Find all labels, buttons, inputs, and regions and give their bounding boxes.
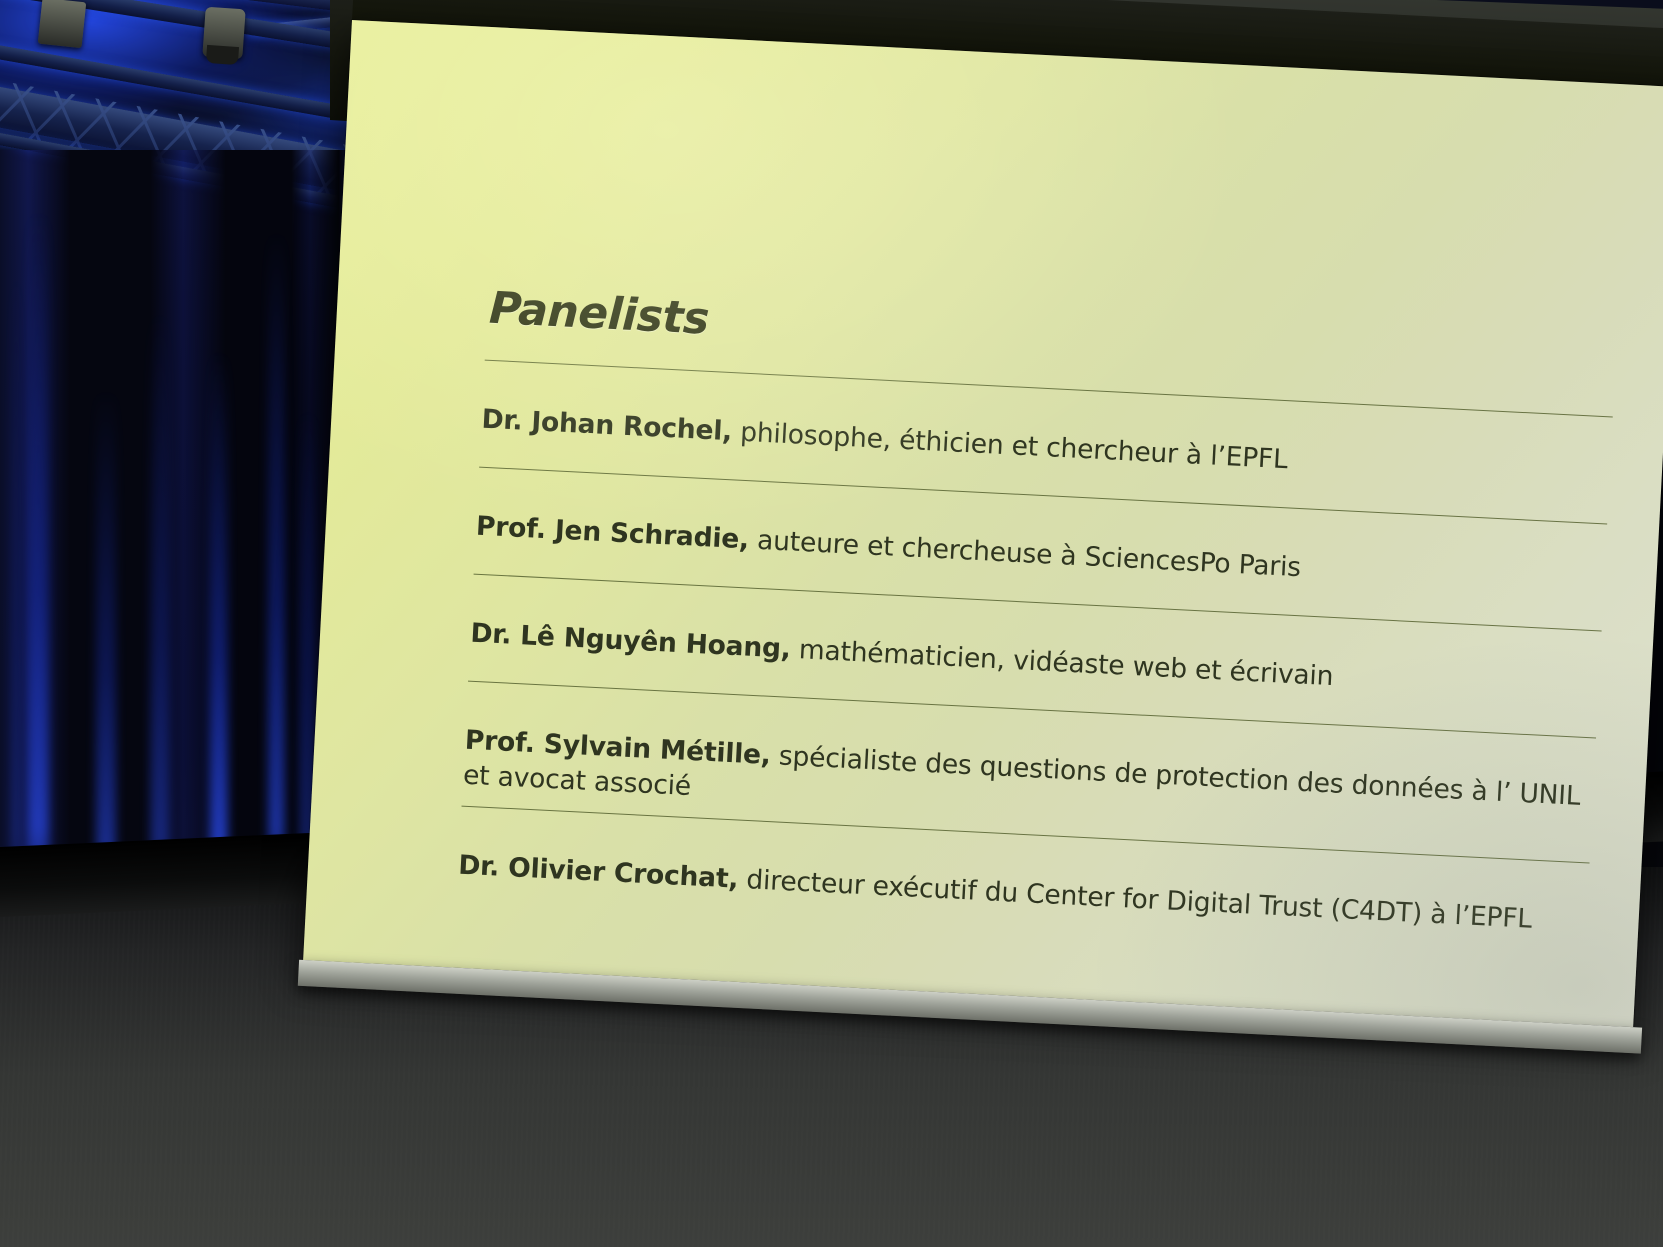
slide-content: Panelists Dr. Johan Rochel, philosophe, … — [457, 283, 1609, 953]
panelist-name: Prof. Jen Schradie, — [475, 511, 750, 556]
projection-screen: Panelists Dr. Johan Rochel, philosophe, … — [303, 20, 1663, 1027]
panelist-role: auteure et chercheuse à SciencesPo Paris — [748, 525, 1301, 584]
panelist-role: philosophe, éthicien et chercheur à l’EP… — [731, 417, 1288, 476]
curtain-light-streak — [96, 390, 116, 910]
panelist-role: mathématicien, vidéaste web et écrivain — [790, 634, 1334, 692]
panelist-name: Dr. Johan Rochel, — [481, 404, 733, 448]
stage-spotlight-icon — [38, 0, 87, 48]
curtain-light-streak — [28, 210, 49, 910]
curtain-light-streak — [268, 230, 285, 910]
panelist-entry: Dr. Lê Nguyên Hoang, mathématicien, vidé… — [470, 573, 1594, 707]
panelist-name: Dr. Olivier Crochat, — [458, 850, 739, 895]
panelist-role: directeur exécutif du Center for Digital… — [737, 864, 1532, 935]
curtain-light-streak — [150, 310, 169, 910]
conference-room-photo: Panelists Dr. Johan Rochel, philosophe, … — [0, 0, 1663, 1247]
panelist-entry: Prof. Jen Schradie, auteure et chercheus… — [475, 466, 1599, 600]
curtain-light-streak — [210, 350, 228, 910]
panelist-name: Dr. Lê Nguyên Hoang, — [470, 618, 792, 665]
curtain-light-streak — [12, 270, 20, 910]
stage-spotlight-icon — [202, 7, 245, 60]
screen-surface: Panelists Dr. Johan Rochel, philosophe, … — [303, 20, 1663, 1027]
